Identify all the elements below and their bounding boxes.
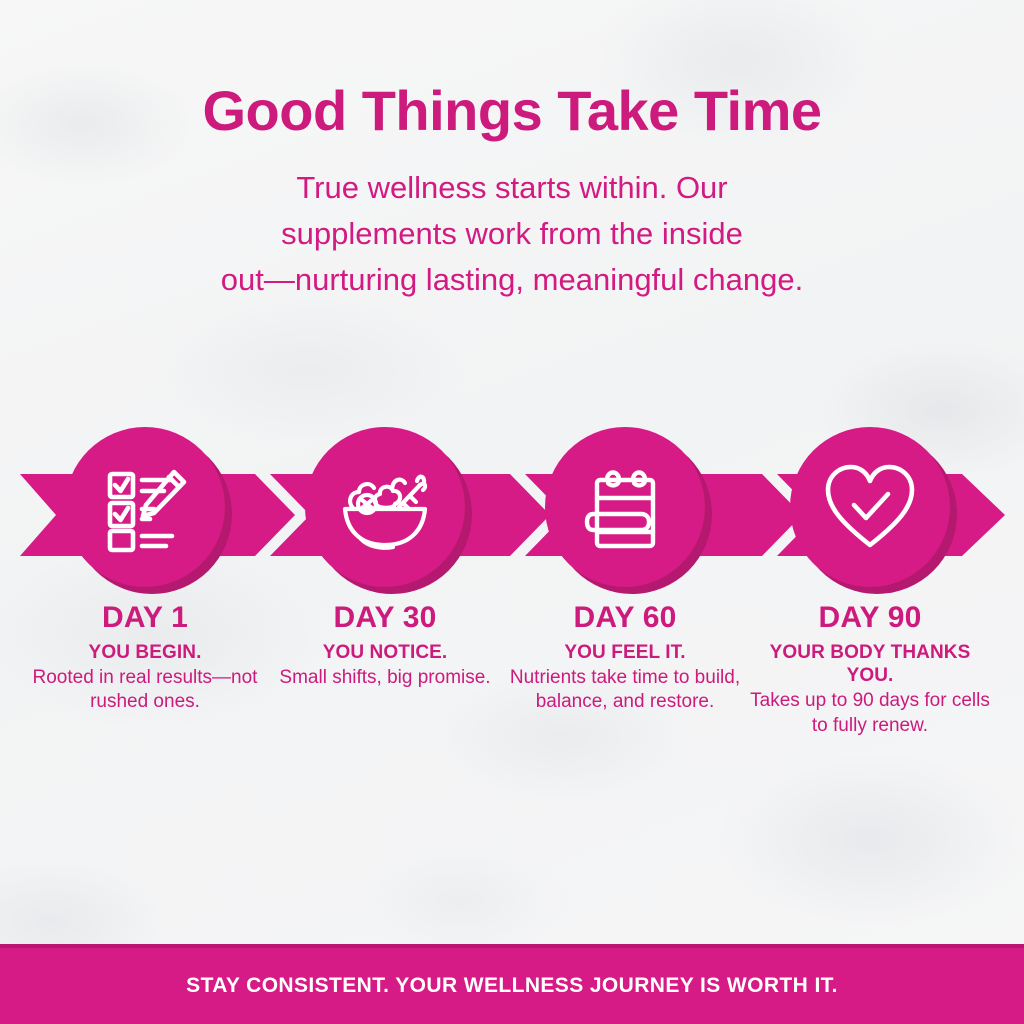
step-icon-circle bbox=[545, 427, 705, 587]
step-icon-circle bbox=[790, 427, 950, 587]
salad-bowl-icon bbox=[337, 459, 433, 555]
subtitle: True wellness starts within. Our supplem… bbox=[82, 165, 942, 303]
circle-face bbox=[305, 427, 465, 587]
step-headline: YOU FEEL IT. bbox=[505, 641, 745, 664]
step-caption: DAY 1 YOU BEGIN. Rooted in real results—… bbox=[25, 601, 265, 715]
infographic-page: Good Things Take Time True wellness star… bbox=[0, 0, 1024, 1024]
circle-face bbox=[545, 427, 705, 587]
step-icon-circle bbox=[305, 427, 465, 587]
checklist-pencil-icon bbox=[98, 460, 192, 554]
timeline-step-day-90[interactable]: DAY 90 YOUR BODY THANKS YOU. Takes up to… bbox=[750, 427, 990, 738]
step-day-label: DAY 60 bbox=[505, 601, 745, 634]
step-caption: DAY 60 YOU FEEL IT. Nutrients take time … bbox=[505, 601, 745, 715]
step-caption: DAY 90 YOUR BODY THANKS YOU. Takes up to… bbox=[750, 601, 990, 738]
subtitle-line-1: True wellness starts within. Our bbox=[82, 165, 942, 211]
step-headline: YOU NOTICE. bbox=[265, 641, 505, 664]
footer-text: STAY CONSISTENT. YOUR WELLNESS JOURNEY I… bbox=[186, 974, 838, 998]
timeline-step-day-1[interactable]: DAY 1 YOU BEGIN. Rooted in real results—… bbox=[25, 427, 265, 715]
step-headline: YOUR BODY THANKS YOU. bbox=[750, 641, 990, 687]
step-body: Takes up to 90 days for cells to fully r… bbox=[750, 689, 990, 738]
step-icon-circle bbox=[65, 427, 225, 587]
calendar-icon bbox=[579, 460, 671, 554]
step-day-label: DAY 1 bbox=[25, 601, 265, 634]
step-caption: DAY 30 YOU NOTICE. Small shifts, big pro… bbox=[265, 601, 505, 690]
heart-check-icon bbox=[822, 461, 918, 553]
step-body: Rooted in real results—not rushed ones. bbox=[25, 666, 265, 715]
step-body: Small shifts, big promise. bbox=[265, 666, 505, 690]
header-block: Good Things Take Time True wellness star… bbox=[0, 0, 1024, 302]
timeline-step-day-60[interactable]: DAY 60 YOU FEEL IT. Nutrients take time … bbox=[505, 427, 745, 715]
circle-face bbox=[65, 427, 225, 587]
footer-banner: STAY CONSISTENT. YOUR WELLNESS JOURNEY I… bbox=[0, 944, 1024, 1024]
circle-face bbox=[790, 427, 950, 587]
timeline-step-day-30[interactable]: DAY 30 YOU NOTICE. Small shifts, big pro… bbox=[265, 427, 505, 690]
step-day-label: DAY 30 bbox=[265, 601, 505, 634]
step-headline: YOU BEGIN. bbox=[25, 641, 265, 664]
subtitle-line-2: supplements work from the inside bbox=[82, 211, 942, 257]
page-title: Good Things Take Time bbox=[0, 82, 1024, 141]
step-body: Nutrients take time to build, balance, a… bbox=[505, 666, 745, 715]
step-day-label: DAY 90 bbox=[750, 601, 990, 634]
subtitle-line-3: out—nurturing lasting, meaningful change… bbox=[82, 257, 942, 303]
